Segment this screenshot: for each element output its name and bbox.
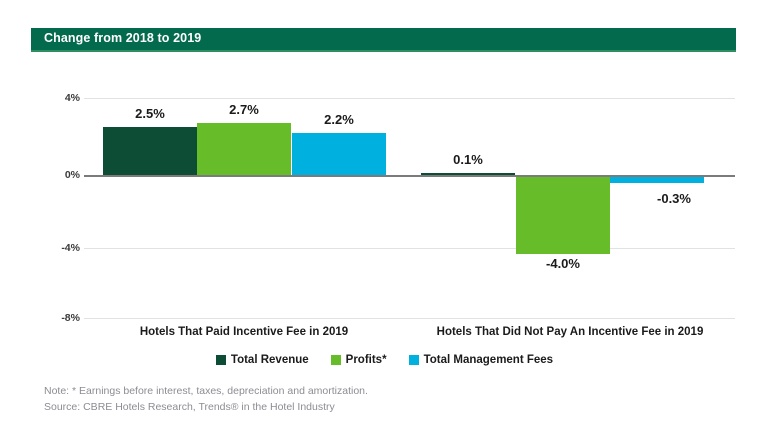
bar-label-paid-total-revenue: 2.5% xyxy=(135,106,165,121)
gridline-4 xyxy=(84,98,735,99)
bar-label-paid-mgmt-fees: 2.2% xyxy=(324,112,354,127)
gridline-neg4 xyxy=(84,248,735,249)
bar-paid-total-management-fees[interactable] xyxy=(292,133,386,175)
y-tick-label-3: -8% xyxy=(40,312,80,324)
legend-swatch-icon-profits xyxy=(331,355,341,365)
legend-item-profits[interactable]: Profits* xyxy=(331,354,387,366)
y-tick-label-0: 4% xyxy=(40,92,80,104)
bar-label-notpaid-profits: -4.0% xyxy=(546,256,580,271)
gridline-neg8 xyxy=(84,318,735,319)
legend-swatch-icon-total-revenue xyxy=(216,355,226,365)
legend-item-total-revenue[interactable]: Total Revenue xyxy=(216,354,309,366)
bar-label-paid-profits: 2.7% xyxy=(229,102,259,117)
bar-label-notpaid-mgmt-fees: -0.3% xyxy=(657,191,691,206)
footnote-note: Note: * Earnings before interest, taxes,… xyxy=(44,383,368,399)
plot-area: 2.5% 2.7% 2.2% 0.1% -4.0% -0.3% xyxy=(84,98,735,318)
legend-label-profits: Profits* xyxy=(346,354,387,366)
y-tick-label-2: -4% xyxy=(40,242,80,254)
chart-title-bar: Change from 2018 to 2019 xyxy=(31,28,736,52)
bar-label-notpaid-total-revenue: 0.1% xyxy=(453,152,483,167)
y-tick-label-1: 0% xyxy=(40,169,80,181)
bar-paid-total-revenue[interactable] xyxy=(103,127,197,175)
chart-page: Change from 2018 to 2019 4% 0% -4% -8% 2… xyxy=(0,0,769,433)
legend-item-total-management-fees[interactable]: Total Management Fees xyxy=(409,354,554,366)
chart-title: Change from 2018 to 2019 xyxy=(44,31,201,45)
chart-footnotes: Note: * Earnings before interest, taxes,… xyxy=(44,383,368,415)
legend-label-total-management-fees: Total Management Fees xyxy=(424,354,554,366)
bar-notpaid-total-revenue[interactable] xyxy=(421,173,515,175)
footnote-source: Source: CBRE Hotels Research, Trends® in… xyxy=(44,399,368,415)
y-axis: 4% 0% -4% -8% xyxy=(36,98,80,318)
bar-notpaid-total-management-fees[interactable] xyxy=(610,177,704,183)
bar-notpaid-profits[interactable] xyxy=(516,177,610,254)
category-label-paid: Hotels That Paid Incentive Fee in 2019 xyxy=(140,326,348,338)
chart-legend: Total Revenue Profits* Total Management … xyxy=(0,354,769,366)
category-label-not-paid: Hotels That Did Not Pay An Incentive Fee… xyxy=(437,326,704,338)
legend-swatch-icon-total-management-fees xyxy=(409,355,419,365)
legend-label-total-revenue: Total Revenue xyxy=(231,354,309,366)
bar-paid-profits[interactable] xyxy=(197,123,291,175)
